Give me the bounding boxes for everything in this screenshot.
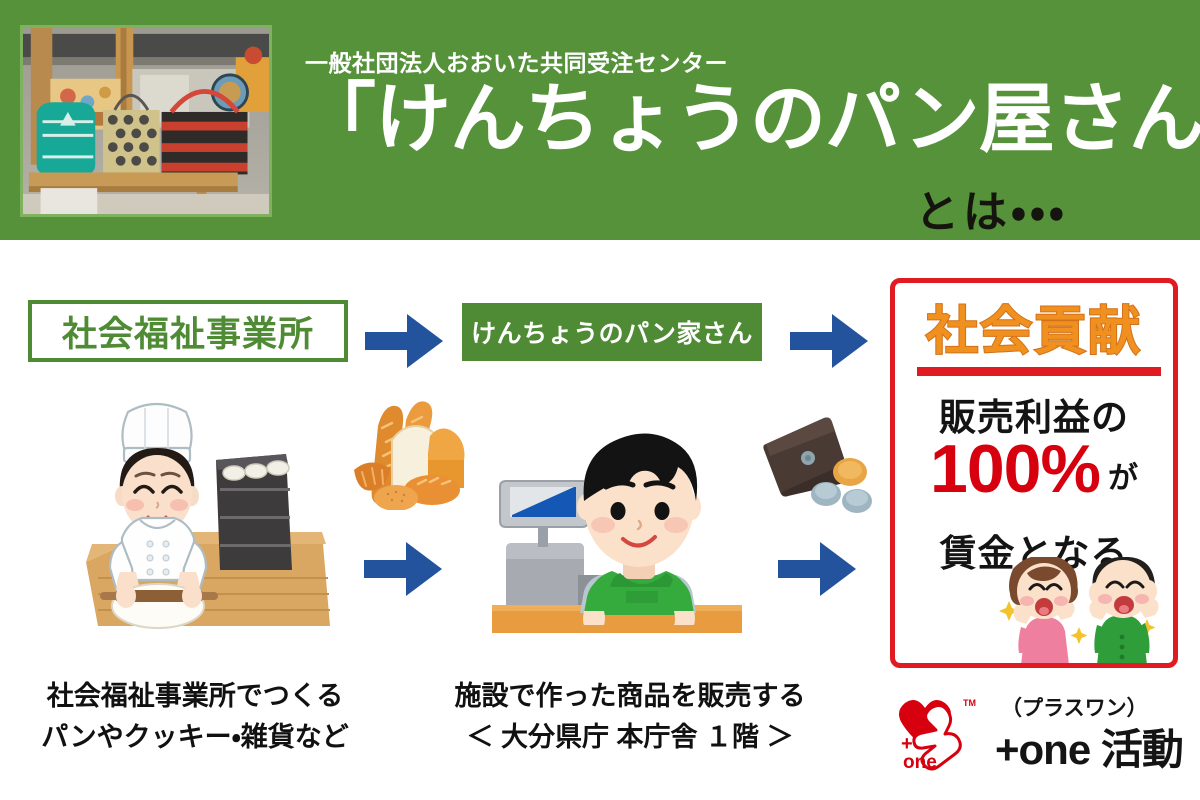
arrow-right-icon-3 [364,540,442,598]
panel-percent-particle: が [1108,453,1138,503]
flow-box-bakery-label: けんちょうのパン家さん [471,314,753,350]
caption-left-line-2: パンやクッキー・雑貨など [0,717,390,758]
social-contribution-heading: 社会貢献 [895,289,1173,364]
bread-illustration [352,392,474,510]
cashier-illustration [492,425,742,661]
panel-percent-row: 100% が [895,435,1173,503]
arrow-right-icon-2 [790,312,868,370]
arrow-right-icon-4 [778,540,856,598]
caption-center-line-1: 施設で作った商品を販売する [455,681,806,711]
caption-center: 施設で作った商品を販売する ＜ 大分県庁 本庁舎 １階 ＞ [400,676,860,757]
plus-one-mark-one: one [903,752,937,772]
plus-one-logo: + one TM （プラスワン） +one 活動 [895,692,1185,772]
header-photo [20,25,272,217]
wallet-illustration [762,412,876,516]
page-title: 「けんちょうのパン屋さん」 [300,82,1200,158]
caption-left-line-1: 社会福祉事業所でつくる [47,681,343,711]
caption-center-line-2: ＜ 大分県庁 本庁舎 １階 ＞ [400,717,860,758]
page-subtitle: とは・・・ [915,176,1068,240]
baker-illustration [78,398,338,656]
plus-one-label: +one 活動 [995,716,1183,777]
kids-illustration [997,557,1167,665]
organization-name: 一般社団法人おおいた共同受注センター [305,44,728,78]
caption-left: 社会福祉事業所でつくる パンやクッキー・雑貨など [0,676,390,757]
panel-divider [917,367,1161,376]
flow-box-welfare-label: 社会福祉事業所 [62,306,314,357]
shop-shelf-photo [23,28,269,215]
poster-root: 一般社団法人おおいた共同受注センター 「けんちょうのパン屋さん」 とは・・・ 社… [0,0,1200,800]
arrow-right-icon-1 [365,312,443,370]
social-contribution-panel: 社会貢献 販売利益の 100% が 賃金となる [890,278,1178,668]
poster-header: 一般社団法人おおいた共同受注センター 「けんちょうのパン屋さん」 とは・・・ [0,0,1200,240]
flow-box-bakery: けんちょうのパン家さん [462,303,762,361]
flow-box-welfare: 社会福祉事業所 [28,300,348,362]
panel-percent-value: 100% [930,435,1100,503]
trademark-icon: TM [963,698,976,708]
plus-one-mark-icon: + one TM [895,692,987,772]
